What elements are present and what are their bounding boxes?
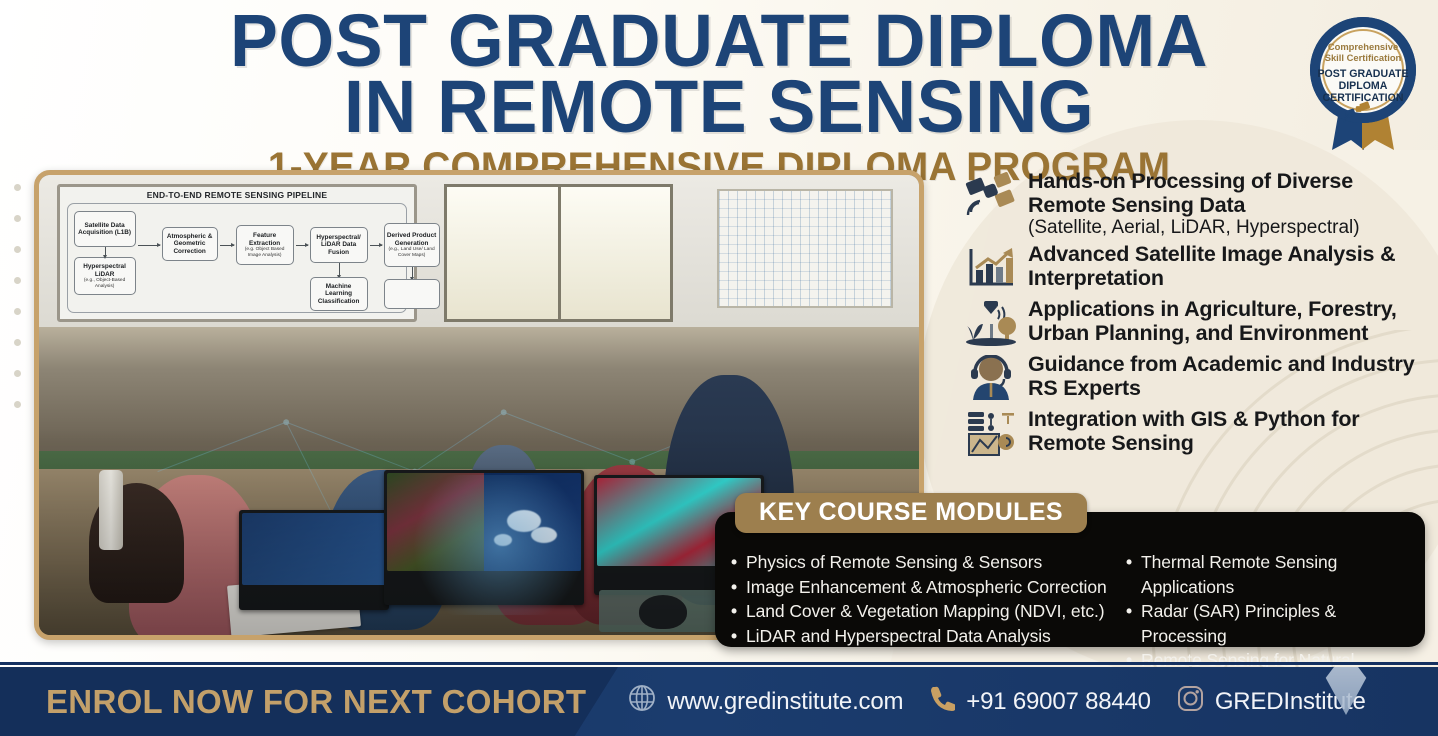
footer-divider xyxy=(0,662,1438,665)
module-label: Physics of Remote Sensing & Sensors xyxy=(746,550,1042,575)
module-item: • Thermal Remote Sensing Applications xyxy=(1126,550,1415,599)
feature-item: Guidance from Academic and Industry RS E… xyxy=(963,353,1433,403)
page-title-line2: IN REMOTE SENSING xyxy=(22,72,1417,142)
instagram-icon xyxy=(1177,685,1204,719)
badge-line3: POST GRADUATE xyxy=(1317,68,1408,80)
bullet-marker: • xyxy=(731,599,737,624)
key-course-modules-panel: KEY COURSE MODULES • Physics of Remote S… xyxy=(715,512,1425,647)
mentor-headset-icon xyxy=(963,353,1019,403)
feature-sublabel: (Satellite, Aerial, LiDAR, Hyperspectral… xyxy=(1028,217,1433,238)
agriculture-sensor-icon xyxy=(963,298,1019,348)
footer-phone-label: +91 69007 88440 xyxy=(966,688,1151,716)
module-label: LiDAR and Hyperspectral Data Analysis xyxy=(746,624,1051,649)
bar-chart-growth-icon xyxy=(963,243,1019,293)
poster-root: POST GRADUATE DIPLOMA IN REMOTE SENSING … xyxy=(0,0,1438,736)
feature-label: Guidance from Academic and Industry RS E… xyxy=(1028,353,1433,400)
module-item: • LiDAR and Hyperspectral Data Analysis xyxy=(731,624,1116,649)
bullet-marker: • xyxy=(731,575,737,600)
footer-phone[interactable]: +91 69007 88440 xyxy=(929,685,1151,718)
module-item: • Image Enhancement & Atmospheric Correc… xyxy=(731,575,1116,600)
bullet-marker: • xyxy=(1126,599,1132,648)
module-item: • Radar (SAR) Principles & Processing xyxy=(1126,599,1415,648)
footer-website[interactable]: www.gredinstitute.com xyxy=(628,684,903,719)
feature-item: Advanced Satellite Image Analysis & Inte… xyxy=(963,243,1433,293)
feature-label: Hands-on Processing of Diverse Remote Se… xyxy=(1028,170,1433,217)
bullet-marker: • xyxy=(731,550,737,575)
feature-label: Advanced Satellite Image Analysis & Inte… xyxy=(1028,243,1433,290)
gis-data-integration-icon xyxy=(963,408,1019,458)
bullet-marker: • xyxy=(1126,550,1132,599)
module-label: Land Cover & Vegetation Mapping (NDVI, e… xyxy=(746,599,1104,624)
features-list: Hands-on Processing of Diverse Remote Se… xyxy=(963,170,1433,463)
feature-item: Integration with GIS & Python for Remote… xyxy=(963,408,1433,458)
module-item: • Land Cover & Vegetation Mapping (NDVI,… xyxy=(731,599,1116,624)
phone-icon xyxy=(929,685,955,718)
module-item: • Physics of Remote Sensing & Sensors xyxy=(731,550,1116,575)
feature-item: Applications in Agriculture, Forestry, U… xyxy=(963,298,1433,348)
module-label: Image Enhancement & Atmospheric Correcti… xyxy=(746,575,1107,600)
module-label: Thermal Remote Sensing Applications xyxy=(1141,550,1415,599)
badge-line1: Comprehensive xyxy=(1328,41,1398,52)
certification-badge: Comprehensive Skill Certification POST G… xyxy=(1302,12,1424,152)
feature-item: Hands-on Processing of Diverse Remote Se… xyxy=(963,170,1433,238)
footer-bar: ENROL NOW FOR NEXT COHORT www.gredinstit… xyxy=(0,667,1438,736)
footer-website-label: www.gredinstitute.com xyxy=(667,688,903,716)
bullet-marker: • xyxy=(731,624,737,649)
module-label: Radar (SAR) Principles & Processing xyxy=(1141,599,1415,648)
modules-heading: KEY COURSE MODULES xyxy=(735,493,1087,533)
badge-line5: CERTIFICATION xyxy=(1322,92,1403,104)
badge-line2: Skill Certification xyxy=(1325,52,1402,63)
footer-cta: ENROL NOW FOR NEXT COHORT xyxy=(46,683,586,721)
globe-icon xyxy=(628,684,656,719)
badge-line4: DIPLOMA xyxy=(1339,80,1388,92)
page-header: POST GRADUATE DIPLOMA IN REMOTE SENSING … xyxy=(0,0,1438,162)
feature-label: Integration with GIS & Python for Remote… xyxy=(1028,408,1433,455)
page-title-line1: POST GRADUATE DIPLOMA xyxy=(22,0,1417,72)
feature-label: Applications in Agriculture, Forestry, U… xyxy=(1028,298,1433,345)
satellite-icon xyxy=(963,170,1019,220)
